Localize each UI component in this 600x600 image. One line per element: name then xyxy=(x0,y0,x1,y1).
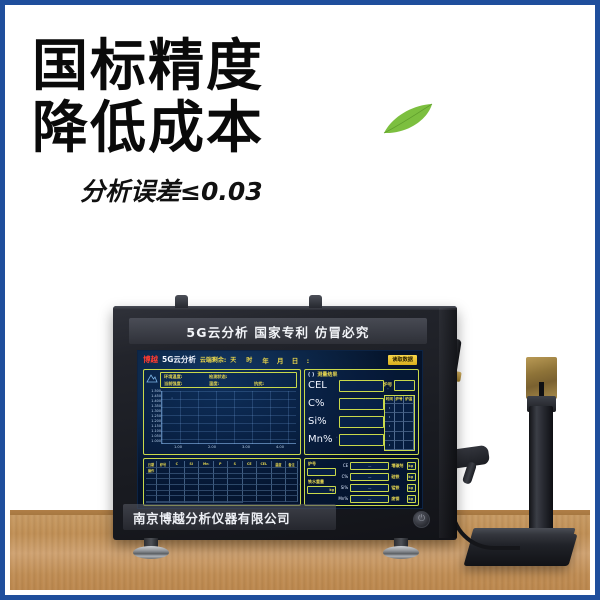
calc-amount-output[interactable]: kg xyxy=(407,473,416,481)
history-cell: : xyxy=(385,432,395,441)
history-cell xyxy=(404,413,414,422)
info-current-intensity-label: 当前强度: xyxy=(161,380,206,387)
calc-element-label: CE xyxy=(337,463,348,468)
graph-y-tick: 1.200 xyxy=(151,420,161,423)
calc-amount-output[interactable]: kg xyxy=(407,462,416,470)
company-name-plate: 南京博越分析仪器有限公司 xyxy=(123,504,336,530)
history-table-grid: 时间炉号炉温::::: xyxy=(384,395,415,451)
records-cell xyxy=(272,496,287,502)
records-header-cell: 备注 xyxy=(286,461,298,468)
records-cell xyxy=(146,502,157,503)
calc-range-input[interactable]: — xyxy=(350,473,389,481)
calc-row: Si%—锰铁kg xyxy=(337,483,416,492)
graph-plot-area xyxy=(161,391,296,444)
result-row-cel: CEL xyxy=(308,378,384,393)
graph-y-tick: 1.500 xyxy=(151,390,161,393)
records-cell xyxy=(157,502,170,503)
result-label-mn: Mn% xyxy=(308,434,336,445)
graph-x-axis: 1.002.003.004.00 xyxy=(161,445,297,452)
graph-y-tick: 1.100 xyxy=(151,430,161,433)
calc-range-input[interactable]: — xyxy=(350,484,389,492)
history-header-cell: 炉温 xyxy=(404,396,414,404)
results-heat-number: 炉号 xyxy=(383,378,415,392)
history-cell xyxy=(395,422,405,431)
analyzer-instrument: 5G云分析 国家专利 仿冒必究 博越 5G云分析 云端剩余: 天 时 年 月 日… xyxy=(113,306,457,540)
history-cell xyxy=(404,422,414,431)
graph-y-tick: 1.150 xyxy=(151,425,161,428)
records-cell xyxy=(170,502,185,503)
graph-info-grid: 环境温度: 检测状态: 当前强度: 温度: 抗扰: xyxy=(160,372,297,388)
history-cell: : xyxy=(385,422,395,431)
leveling-foot-left xyxy=(133,538,169,566)
calc-range-dash: — xyxy=(368,486,371,490)
records-header-cell: 炉号 xyxy=(157,461,170,468)
results-title: ( )测量结果 xyxy=(308,371,337,378)
results-heat-number-value[interactable] xyxy=(394,380,415,391)
info-temperature-label: 温度: xyxy=(206,380,251,387)
history-cell xyxy=(404,432,414,441)
graph-x-tick: 3.00 xyxy=(242,445,250,449)
graph-y-tick: 1.250 xyxy=(151,415,161,418)
calc-range-dash: — xyxy=(368,497,371,501)
records-header-cell: 日期 xyxy=(146,461,157,468)
calc-row: CE—增碳剂kg xyxy=(337,461,416,470)
calc-range-input[interactable]: — xyxy=(350,462,389,470)
sample-stand-column xyxy=(529,406,553,538)
graph-panel: 环境温度: 检测状态: 当前强度: 温度: 抗扰: 1.5001.4501.40… xyxy=(143,369,301,455)
carry-handle-right[interactable] xyxy=(309,295,322,308)
headline-line-1: 国标精度 xyxy=(32,36,372,98)
result-label-si: Si% xyxy=(308,416,336,427)
graph-y-tick: 1.450 xyxy=(151,395,161,398)
banner-text: 5G云分析 国家专利 仿冒必究 xyxy=(186,322,369,341)
records-table-grid: 日期炉号CSiMnPSCECEL温度备注操作 xyxy=(146,461,298,503)
history-cell: : xyxy=(385,404,395,413)
instrument-top-bevel xyxy=(113,306,457,310)
history-cell xyxy=(404,404,414,413)
poster-canvas: 国标精度 降低成本 分析误差≤0.03 xyxy=(10,10,590,590)
calc-additive-label: 锰铁 xyxy=(391,485,405,491)
records-header-cell: CEL xyxy=(257,461,272,468)
history-cell: : xyxy=(385,413,395,422)
cloud-hours-value: 时 xyxy=(246,355,258,364)
lcd-screen[interactable]: 博越 5G云分析 云端剩余: 天 时 年 月 日 : 读取数据 环境温度: 检 xyxy=(137,350,423,509)
history-cell xyxy=(395,413,405,422)
history-cell xyxy=(395,404,405,413)
graph-x-tick: 2.00 xyxy=(208,445,216,449)
power-icon[interactable]: ⏻ xyxy=(413,511,430,528)
graph-y-tick: 1.000 xyxy=(151,440,161,443)
records-header-cell: 温度 xyxy=(272,461,287,468)
result-label-c: C% xyxy=(308,398,336,409)
result-label-cel: CEL xyxy=(308,380,336,391)
result-value-mn[interactable] xyxy=(339,434,384,446)
calc-iron-weight-input[interactable]: kg xyxy=(307,486,336,494)
mountain-logo-icon xyxy=(146,372,158,384)
brand-name-cn: 博越 xyxy=(143,354,158,365)
top-banner: 5G云分析 国家专利 仿冒必究 xyxy=(129,318,427,344)
graph-x-tick: 1.00 xyxy=(174,445,182,449)
records-cell xyxy=(286,496,298,502)
graph-y-tick: 1.050 xyxy=(151,435,161,438)
calc-additive-label: 增碳剂 xyxy=(391,463,405,469)
records-cell xyxy=(199,502,214,503)
records-header-cell: C xyxy=(170,461,185,468)
sub-headline: 分析误差≤0.03 xyxy=(80,172,372,208)
result-value-si[interactable] xyxy=(339,416,384,428)
history-cell: : xyxy=(385,441,395,450)
records-cell xyxy=(228,502,243,503)
records-header-cell: P xyxy=(214,461,229,468)
calc-heat-number-label: 炉号 xyxy=(307,461,336,467)
measurement-results-panel: ( )测量结果 CEL C% Si% M xyxy=(304,369,419,455)
records-cell xyxy=(243,496,258,502)
brand-name-5g: 5G云分析 xyxy=(162,354,196,365)
calc-row: Mn%—废钢kg xyxy=(337,494,416,503)
calc-range-input[interactable]: — xyxy=(350,495,389,503)
leaf-icon xyxy=(382,103,434,137)
info-ambient-temp-label: 环境温度: xyxy=(161,373,206,380)
screen-topbar: 博越 5G云分析 云端剩余: 天 时 年 月 日 : 读取数据 xyxy=(140,352,420,367)
graph-x-tick: 4.00 xyxy=(276,445,284,449)
history-cell xyxy=(404,441,414,450)
calc-range-dash: — xyxy=(368,475,371,479)
result-value-cel[interactable] xyxy=(339,380,384,392)
calc-element-label: C% xyxy=(337,474,348,479)
calc-amount-output[interactable]: kg xyxy=(407,495,416,503)
read-data-button[interactable]: 读取数据 xyxy=(388,355,417,365)
calc-additive-label: 废钢 xyxy=(391,496,405,502)
charge-calc-panel: 炉号 铁水重量 kg CE—增碳剂kgC%—硅铁kgSi%—锰铁kgMn%—废钢… xyxy=(304,458,419,506)
result-row-si: Si% xyxy=(308,414,384,429)
info-resist-label: 抗扰: xyxy=(251,380,296,387)
result-value-c[interactable] xyxy=(339,398,384,410)
history-cell xyxy=(395,432,405,441)
records-cell xyxy=(185,502,200,503)
calc-left-column: 炉号 铁水重量 kg xyxy=(307,461,336,503)
poster-frame: 国标精度 降低成本 分析误差≤0.03 xyxy=(0,0,600,600)
history-header-cell: 炉号 xyxy=(395,396,405,404)
history-header-cell: 时间 xyxy=(385,396,395,404)
records-cell xyxy=(257,496,272,502)
calc-rows: CE—增碳剂kgC%—硅铁kgSi%—锰铁kgMn%—废钢kg xyxy=(337,460,416,504)
results-heat-number-label: 炉号 xyxy=(383,382,394,388)
instrument-side-panel xyxy=(439,308,457,538)
headline-line-2: 降低成本 xyxy=(32,98,372,160)
calc-heat-number-input[interactable] xyxy=(307,468,336,476)
calc-amount-output[interactable]: kg xyxy=(407,484,416,492)
records-cell xyxy=(214,502,229,503)
graph-y-tick: 1.400 xyxy=(151,400,161,403)
result-row-mn: Mn% xyxy=(308,432,384,447)
power-glyph: ⏻ xyxy=(418,515,425,524)
calc-element-label: Si% xyxy=(337,485,348,490)
carry-handle-left[interactable] xyxy=(175,295,188,308)
date-label: 年 月 日 : xyxy=(262,355,312,365)
foot-disc xyxy=(133,546,169,559)
info-spare-label xyxy=(251,373,296,380)
cloud-remaining-label: 云端剩余: xyxy=(200,355,226,364)
records-header-cell: S xyxy=(228,461,243,468)
info-detect-state-label: 检测状态: xyxy=(206,373,251,380)
records-table-panel[interactable]: 日期炉号CSiMnPSCECEL温度备注操作 xyxy=(143,458,301,506)
calc-iron-weight-label: 铁水重量 xyxy=(307,479,336,485)
headline-block: 国标精度 降低成本 分析误差≤0.03 xyxy=(32,36,372,208)
history-cell xyxy=(395,441,405,450)
history-table: 时间炉号炉温::::: xyxy=(384,395,415,451)
foot-disc xyxy=(383,546,419,559)
graph-y-axis: 1.5001.4501.4001.3501.3001.2501.2001.150… xyxy=(146,390,161,444)
leveling-foot-right xyxy=(383,538,419,566)
result-row-c: C% xyxy=(308,396,384,411)
calc-row: C%—硅铁kg xyxy=(337,472,416,481)
records-header-cell: Si xyxy=(185,461,200,468)
cloud-days-value: 天 xyxy=(230,355,242,364)
records-header-cell: CE xyxy=(243,461,258,468)
calc-element-label: Mn% xyxy=(337,496,348,501)
calc-additive-label: 硅铁 xyxy=(391,474,405,480)
graph-y-tick: 1.300 xyxy=(151,410,161,413)
graph-y-tick: 1.350 xyxy=(151,405,161,408)
records-header-cell: Mn xyxy=(199,461,214,468)
calc-range-dash: — xyxy=(368,464,371,468)
company-name-text: 南京博越分析仪器有限公司 xyxy=(133,508,290,527)
